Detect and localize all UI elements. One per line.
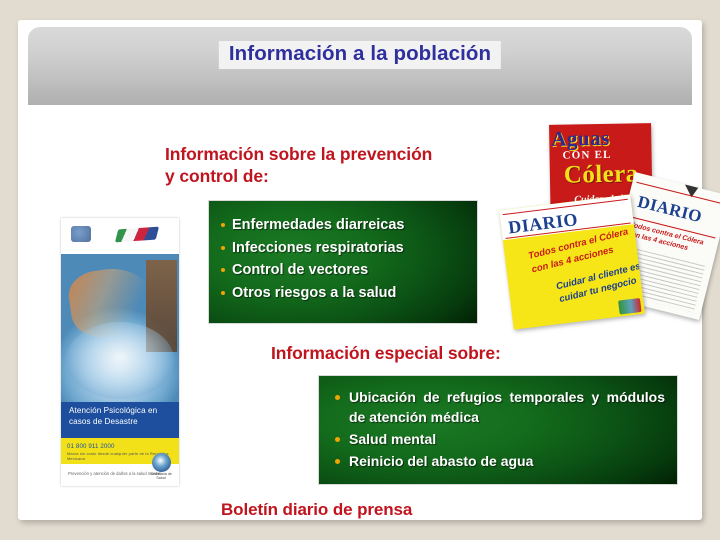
heading-especial: Información especial sobre:: [271, 342, 501, 364]
list-item-label: Infecciones respiratorias: [232, 240, 404, 256]
health-ministry-seal-icon: Secretaría de Salud: [148, 453, 174, 483]
yellow-newspaper: DIARIO Todos contra el Cólera con las 4 …: [499, 194, 645, 329]
poster-subtitle: CON EL: [562, 149, 611, 162]
brochure-footer-text: Prevención y atención de daños a la salu…: [68, 471, 160, 476]
poster-title: Aguas: [551, 125, 653, 152]
brochure-title: Atención Psicológica en casos de Desastr…: [69, 406, 174, 427]
brochure-header: [61, 218, 179, 254]
list-item: Reinicio del abasto de agua: [333, 452, 665, 472]
slide-stage: Información a la población Información s…: [0, 0, 720, 540]
brochure-image: Atención Psicológica en casos de Desastr…: [61, 218, 179, 486]
newspaper-sponsor-logo-icon: [618, 298, 642, 315]
newspaper-collage-image: Aguas CON EL Cólera Cuidar al cliente DI…: [506, 124, 718, 324]
heading-prevencion-line1: Información sobre la prevención: [165, 143, 432, 165]
list-item-label: Control de vectores: [232, 262, 368, 278]
list-item: Infecciones respiratorias: [221, 237, 477, 260]
bullet-dot-icon: [221, 246, 225, 250]
seal-caption: Secretaría de Salud: [148, 473, 174, 481]
bullet-dot-icon: [335, 395, 340, 400]
prevention-topics-box: Enfermedades diarreicas Infecciones resp…: [208, 200, 478, 324]
prevention-bullet-list: Enfermedades diarreicas Infecciones resp…: [209, 201, 477, 304]
bullet-dot-icon: [221, 268, 225, 272]
list-item: Enfermedades diarreicas: [221, 214, 477, 237]
bullet-dot-icon: [335, 459, 340, 464]
list-item: Otros riesgos a la salud: [221, 282, 477, 305]
list-item-label: Reinicio del abasto de agua: [349, 452, 665, 472]
list-item-label: Enfermedades diarreicas: [232, 217, 404, 233]
poster-keyword: Cólera: [564, 160, 639, 189]
list-item-label: Ubicación de refugios temporales y módul…: [349, 388, 665, 428]
bullet-dot-icon: [221, 223, 225, 227]
brochure-title-band: Atención Psicológica en casos de Desastr…: [61, 402, 179, 438]
page-title: Información a la población: [229, 42, 491, 66]
list-item: Ubicación de refugios temporales y módul…: [333, 388, 665, 428]
list-item-label: Otros riesgos a la salud: [232, 285, 396, 301]
brochure-phone-number: 01 800 911 2000: [67, 443, 115, 450]
brochure-artwork: [61, 254, 179, 402]
list-item-label: Salud mental: [349, 430, 665, 450]
list-item: Salud mental: [333, 430, 665, 450]
seal-ring-icon: [152, 453, 171, 472]
brochure-logo-icon: [71, 226, 91, 242]
slide-card: Información a la población Información s…: [18, 20, 702, 520]
special-info-box: Ubicación de refugios temporales y módul…: [318, 375, 678, 485]
heading-prevencion-line2: y control de:: [165, 165, 432, 187]
artwork-shape-water: [66, 322, 175, 399]
brochure-footer-band: Prevención y atención de daños a la salu…: [61, 464, 179, 486]
slide-title-plate: Información a la población: [219, 41, 501, 69]
mexico-flag-icon: [115, 227, 159, 243]
bullet-dot-icon: [221, 291, 225, 295]
slide-header-band: Información a la población: [28, 27, 692, 105]
list-item: Control de vectores: [221, 259, 477, 282]
special-bullet-list: Ubicación de refugios temporales y módul…: [319, 376, 677, 472]
heading-prevencion: Información sobre la prevención y contro…: [165, 143, 432, 188]
bullet-dot-icon: [335, 437, 340, 442]
heading-boletin: Boletín diario de prensa: [221, 499, 412, 521]
